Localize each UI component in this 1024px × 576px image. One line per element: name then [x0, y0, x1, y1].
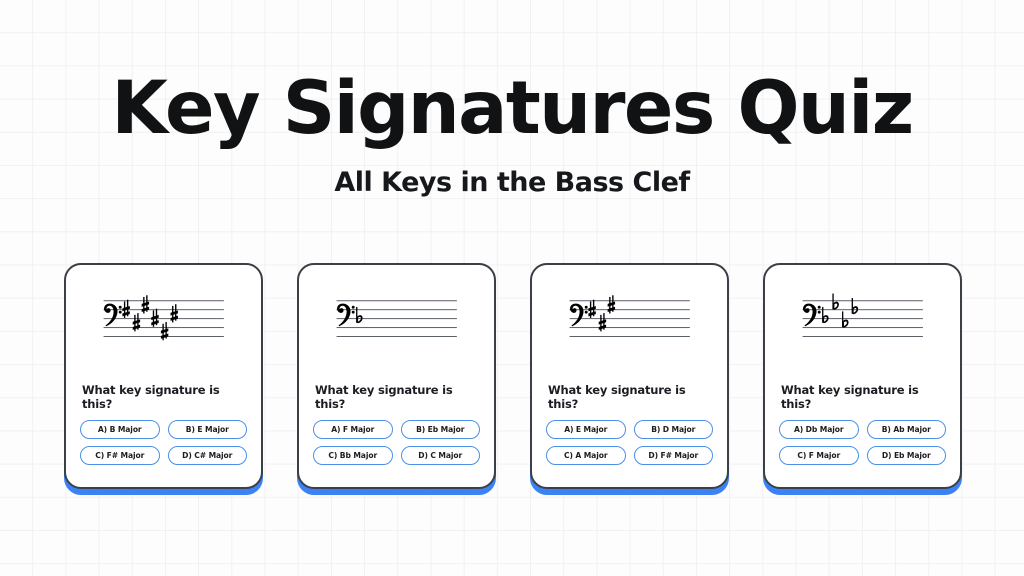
page-header: Key Signatures Quiz All Keys in the Bass… [0, 0, 1024, 198]
staff-line [803, 318, 923, 319]
staff-line [570, 309, 690, 310]
staff-line [803, 309, 923, 310]
answer-option[interactable]: D) C# Major [168, 446, 248, 465]
staff-line [570, 318, 690, 319]
quiz-card: What key signature is this? A) Db MajorB… [763, 263, 962, 489]
answer-options: A) F MajorB) Eb MajorC) Bb MajorD) C Maj… [311, 420, 482, 465]
sharp-accidental [588, 300, 595, 318]
answer-option[interactable]: C) F# Major [80, 446, 160, 465]
answer-option[interactable]: A) E Major [546, 420, 626, 439]
music-staff [546, 287, 721, 353]
card-question: What key signature is this? [311, 383, 482, 411]
sharp-accidental [142, 295, 149, 313]
answer-option[interactable]: D) Eb Major [867, 446, 947, 465]
flat-accidental [842, 311, 849, 327]
answer-option[interactable]: C) F Major [779, 446, 859, 465]
staff-line [337, 300, 457, 301]
answer-option[interactable]: D) F# Major [634, 446, 714, 465]
staff-line [337, 309, 457, 310]
staff-area [546, 265, 713, 383]
music-staff [313, 287, 488, 353]
staff-line [803, 336, 923, 337]
quiz-card: What key signature is this? A) F MajorB)… [297, 263, 496, 489]
sharp-accidental [171, 304, 178, 322]
staff-line [570, 336, 690, 337]
music-staff [779, 287, 954, 353]
staff-line [803, 327, 923, 328]
page-title: Key Signatures Quiz [0, 72, 1024, 145]
answer-option[interactable]: A) B Major [80, 420, 160, 439]
sharp-accidental [608, 295, 615, 313]
card-question: What key signature is this? [78, 383, 249, 411]
sharp-accidental [133, 313, 140, 331]
answer-option[interactable]: D) C Major [401, 446, 481, 465]
answer-options: A) E MajorB) D MajorC) A MajorD) F# Majo… [544, 420, 715, 465]
staff-line [337, 336, 457, 337]
quiz-card-row: What key signature is this? A) B MajorB)… [64, 263, 962, 495]
staff-line [337, 327, 457, 328]
answer-option[interactable]: B) Eb Major [401, 420, 481, 439]
staff-area [80, 265, 247, 383]
staff-line [803, 300, 923, 301]
staff-line [337, 318, 457, 319]
staff-area [313, 265, 480, 383]
sharp-accidental [161, 322, 168, 340]
bass-clef-icon [104, 304, 122, 327]
quiz-card: What key signature is this? A) B MajorB)… [64, 263, 263, 489]
answer-option[interactable]: B) E Major [168, 420, 248, 439]
answer-option[interactable]: B) Ab Major [867, 420, 947, 439]
card-question: What key signature is this? [544, 383, 715, 411]
sharp-accidental [122, 300, 129, 318]
staff-line [104, 318, 224, 319]
answer-options: A) Db MajorB) Ab MajorC) F MajorD) Eb Ma… [777, 420, 948, 465]
bass-clef-icon [337, 304, 355, 327]
answer-option[interactable]: B) D Major [634, 420, 714, 439]
staff-line [104, 300, 224, 301]
staff-line [104, 309, 224, 310]
sharp-accidental [599, 313, 606, 331]
staff-area [779, 265, 946, 383]
answer-option[interactable]: A) Db Major [779, 420, 859, 439]
answer-option[interactable]: C) Bb Major [313, 446, 393, 465]
bass-clef-icon [570, 304, 588, 327]
answer-option[interactable]: A) F Major [313, 420, 393, 439]
staff-line [570, 327, 690, 328]
sharp-accidental [151, 309, 158, 327]
bass-clef-icon [803, 304, 821, 327]
flat-accidental [832, 294, 839, 310]
answer-options: A) B MajorB) E MajorC) F# MajorD) C# Maj… [78, 420, 249, 465]
card-question: What key signature is this? [777, 383, 948, 411]
staff-line [570, 300, 690, 301]
answer-option[interactable]: C) A Major [546, 446, 626, 465]
music-staff [80, 287, 255, 353]
page-subtitle: All Keys in the Bass Clef [0, 167, 1024, 198]
quiz-card: What key signature is this? A) E MajorB)… [530, 263, 729, 489]
